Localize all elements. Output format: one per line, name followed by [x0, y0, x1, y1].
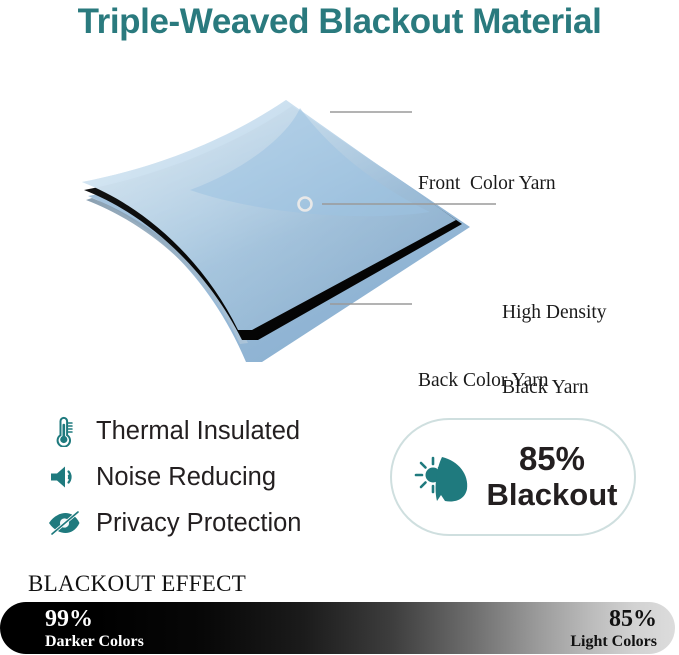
blackout-percentage-badge: 85% Blackout — [390, 418, 636, 536]
light-colors-label: Light Colors — [570, 632, 657, 651]
label-back-color-yarn: Back Color Yarn — [418, 369, 549, 394]
eye-slash-icon — [44, 504, 84, 542]
feature-list: Thermal Insulated Noise Reducing Privacy… — [44, 408, 374, 546]
label-high-density-line1: High Density — [502, 301, 607, 326]
feature-label: Noise Reducing — [96, 463, 276, 492]
blackout-effect-heading: BLACKOUT EFFECT — [28, 571, 246, 597]
light-colors-percent: 85% — [570, 607, 657, 632]
feature-item-thermal-insulated: Thermal Insulated — [44, 408, 374, 454]
speaker-sound-icon — [44, 458, 84, 496]
gradient-bar-right-stat: 85% Light Colors — [570, 607, 657, 651]
feature-item-noise-reducing: Noise Reducing — [44, 454, 374, 500]
blackout-word: Blackout — [487, 478, 618, 513]
feature-label: Privacy Protection — [96, 509, 302, 538]
darker-colors-percent: 99% — [45, 607, 144, 632]
gradient-bar-left-stat: 99% Darker Colors — [45, 607, 144, 651]
blackout-percent: 85% — [487, 441, 618, 478]
thermometer-icon — [44, 412, 84, 450]
page-title: Triple-Weaved Blackout Material — [0, 2, 679, 42]
sun-blocked-icon — [409, 441, 481, 513]
darker-colors-label: Darker Colors — [45, 632, 144, 651]
fabric-layers-diagram: Front Color Yarn High Density Black Yarn… — [0, 72, 679, 362]
blackout-badge-text: 85% Blackout — [487, 441, 618, 513]
label-front-color-yarn: Front Color Yarn — [418, 172, 556, 197]
feature-item-privacy-protection: Privacy Protection — [44, 500, 374, 546]
feature-label: Thermal Insulated — [96, 417, 300, 446]
